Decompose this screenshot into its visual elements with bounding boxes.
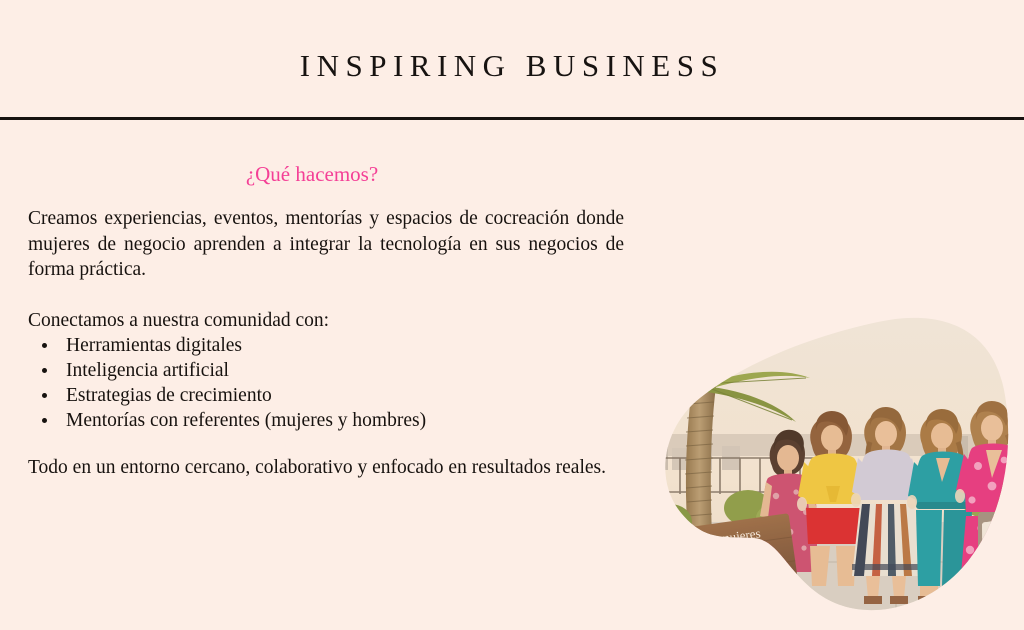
flower-pot [632,548,688,598]
sign-line-3: se impulsan y [678,567,751,592]
team-photo: Una red de mujeres que se aompaman, se i… [626,286,1014,630]
sign-line-2: que se aompaman, [666,545,764,573]
list-item-label: Inteligencia artificial [66,360,229,381]
spacer [28,283,624,308]
list-item-label: Mentorías con referentes (mujeres y homb… [66,410,426,431]
spacer [28,433,624,455]
text-column: Creamos experiencias, eventos, mentorías… [28,206,624,481]
list-item: Inteligencia artificial [40,358,624,383]
bullet-icon [42,418,47,423]
list-item: Estrategias de crecimiento [40,383,624,408]
content-area: ¿Qué hacemos? Creamos experiencias, even… [0,118,1024,553]
services-list: Herramientas digitales Inteligencia arti… [28,333,624,433]
bullet-icon [42,393,47,398]
list-item-label: Herramientas digitales [66,335,242,356]
sign-line-4: crec [691,591,715,609]
section-heading: ¿Qué hacemos? [0,162,624,187]
page-title: INSPIRING BUSINESS [0,48,1024,84]
sunset-overlay [626,286,1014,630]
intro-paragraph: Creamos experiencias, eventos, mentorías… [28,206,624,283]
bullet-icon [42,343,47,348]
closing-paragraph: Todo en un entorno cercano, colaborativo… [28,455,624,481]
list-intro: Conectamos a nuestra comunidad con: [28,308,624,334]
photo-content: Una red de mujeres que se aompaman, se i… [626,286,1014,630]
photo-container: Una red de mujeres que se aompaman, se i… [626,286,1014,630]
page-header: INSPIRING BUSINESS [0,0,1024,118]
list-item-label: Estrategias de crecimiento [66,385,272,406]
list-item: Mentorías con referentes (mujeres y homb… [40,408,624,433]
list-item: Herramientas digitales [40,333,624,358]
bullet-icon [42,368,47,373]
